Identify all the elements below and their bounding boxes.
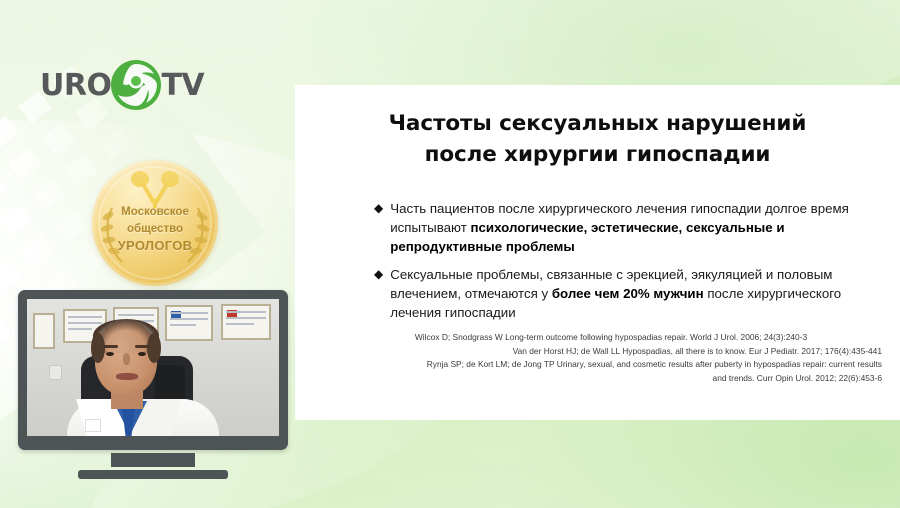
bullet-text: Часть пациентов после хирургического леч… <box>390 199 860 256</box>
monitor-stand-neck <box>111 453 195 467</box>
speaker-mouth <box>116 373 138 380</box>
seal-line-3: УРОЛОГОВ <box>92 237 218 256</box>
framed-certificate <box>33 313 55 349</box>
bullet-item: ◆Часть пациентов после хирургического ле… <box>374 199 860 256</box>
coat-pocket <box>85 419 101 432</box>
speaker-brow-right <box>135 345 150 348</box>
slide-screenshot: URO TV <box>0 0 900 508</box>
moscow-urology-society-seal: Московское общество УРОЛОГОВ <box>92 160 218 286</box>
seal-line-1: Московское <box>92 204 218 221</box>
reference-line: Van der Horst HJ; de Wall LL Hypospadias… <box>340 345 882 359</box>
speaker-eye-right <box>138 352 146 356</box>
logo-text-tv: TV <box>161 68 204 103</box>
seal-text-block: Московское общество УРОЛОГОВ <box>92 204 218 256</box>
wall-outlet <box>49 365 62 380</box>
presentation-slide: Частоты сексуальных нарушений после хиру… <box>295 85 900 420</box>
bullet-diamond-icon: ◆ <box>374 265 383 322</box>
reference-list: Wilcox D; Snodgrass W Long-term outcome … <box>340 331 882 385</box>
speaker-hair-right <box>147 333 161 363</box>
uro-tv-logo: URO TV <box>40 58 204 112</box>
monitor-screen[interactable] <box>27 299 279 436</box>
uro-tv-emblem-icon <box>109 58 163 112</box>
framed-certificate <box>165 305 213 341</box>
slide-title: Частоты сексуальных нарушений после хиру… <box>295 109 900 170</box>
bullet-text-bold: более чем 20% мужчин <box>552 286 704 301</box>
slide-title-line-1: Частоты сексуальных нарушений <box>295 109 900 140</box>
reference-line: Wilcox D; Snodgrass W Long-term outcome … <box>340 331 882 345</box>
speaker-eye-left <box>106 352 114 356</box>
framed-certificate <box>221 304 271 340</box>
bullet-diamond-icon: ◆ <box>374 199 383 256</box>
monitor-frame <box>18 290 288 450</box>
reference-line: Rynja SP; de Kort LM; de Jong TP Urinary… <box>340 358 882 372</box>
monitor-stand-base <box>78 470 228 479</box>
slide-title-line-2: после хирургии гипоспадии <box>295 140 900 171</box>
speaker-hair-left <box>91 333 105 363</box>
logo-text-uro: URO <box>40 68 111 103</box>
bullet-text: Сексуальные проблемы, связанные с эрекци… <box>390 265 860 322</box>
seal-line-2: общество <box>92 221 218 238</box>
speaker-video-monitor[interactable] <box>18 290 288 479</box>
bullet-list: ◆Часть пациентов после хирургического ле… <box>374 199 860 331</box>
speaker-brow-left <box>103 345 118 348</box>
bullet-item: ◆Сексуальные проблемы, связанные с эрекц… <box>374 265 860 322</box>
reference-line: and trends. Curr Opin Urol. 2012; 22(6):… <box>340 372 882 386</box>
speaker-nose <box>123 353 130 365</box>
